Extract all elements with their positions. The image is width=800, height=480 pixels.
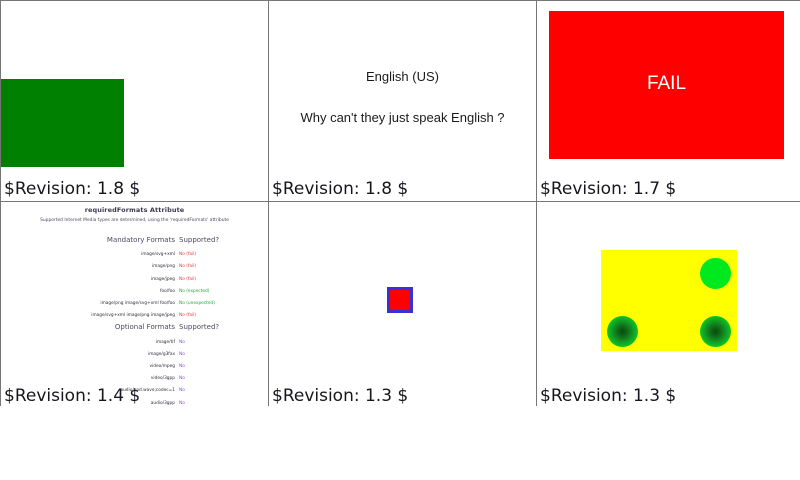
revision-label: $Revision: 1.8 $	[272, 179, 408, 199]
yellow-circles-canvas	[537, 202, 800, 408]
cell-green-rect: $Revision: 1.8 $	[1, 1, 268, 201]
table-row: video/mpeg No	[1, 358, 268, 370]
format-name: foo/foo	[160, 289, 175, 294]
supported-value: No	[179, 364, 185, 369]
green-circle-bottom-right	[700, 316, 731, 347]
english-text-canvas: English (US) Why can't they just speak E…	[269, 1, 536, 201]
fail-banner-canvas: FAIL	[537, 1, 800, 201]
revision-label: $Revision: 1.7 $	[540, 179, 676, 199]
table-row: image/svg+xml image/png image/jpeg No (f…	[1, 307, 268, 319]
format-name: image/svg+xml image/png image/jpeg	[91, 313, 175, 318]
supported-value: No (fail)	[179, 264, 196, 269]
optional-section-header: Optional Formats Supported?	[1, 319, 268, 333]
supported-value: No (fail)	[179, 277, 196, 282]
revision-label: $Revision: 1.8 $	[4, 179, 140, 199]
revision-label: $Revision: 1.4 $	[4, 386, 140, 406]
format-name: video/3gpp	[151, 376, 175, 381]
format-name: image/png	[152, 264, 175, 269]
formats-table-body: Mandatory Formats Supported? image/svg+x…	[1, 232, 268, 407]
cell-required-formats-report: requiredFormats Attribute Supported Inte…	[1, 202, 268, 408]
revision-label: $Revision: 1.3 $	[272, 386, 408, 406]
table-row: image/jpeg No (fail)	[1, 271, 268, 283]
supported-value: No (fail)	[179, 313, 196, 318]
green-rectangle-shape	[1, 79, 124, 167]
cell-yellow-circles: $Revision: 1.3 $	[537, 202, 800, 408]
yellow-rectangle-shape	[601, 250, 737, 351]
supported-value: No	[179, 376, 185, 381]
fail-banner-shape: FAIL	[549, 11, 784, 159]
table-row: foo/foo No (expected)	[1, 283, 268, 295]
format-name: image/svg+xml	[141, 252, 175, 257]
table-row: image/tif No	[1, 334, 268, 346]
table-row: image/png image/svg+xml foo/foo No (unex…	[1, 295, 268, 307]
cell-english-text: English (US) Why can't they just speak E…	[269, 1, 536, 201]
screenshot-root: $Revision: 1.8 $ English (US) Why can't …	[0, 0, 800, 480]
table-row: video/3gpp No	[1, 370, 268, 382]
supported-value: No	[179, 352, 185, 357]
required-formats-report: requiredFormats Attribute Supported Inte…	[1, 206, 268, 407]
table-row: image/g3fax No	[1, 346, 268, 358]
format-name: audio/3gpp	[151, 401, 175, 406]
optional-supported-heading: Supported?	[179, 319, 268, 333]
green-circle-top-right	[700, 258, 731, 289]
format-name: image/png image/svg+xml foo/foo	[100, 301, 175, 306]
report-subtitle: Supported Internet Media types are deter…	[1, 218, 268, 223]
supported-value: No	[179, 388, 185, 393]
supported-value: No (expected)	[179, 289, 209, 294]
supported-value: No (unexpected)	[179, 301, 215, 306]
table-row: image/png No (fail)	[1, 258, 268, 270]
green-circle-bottom-left	[607, 316, 638, 347]
test-result-grid: $Revision: 1.8 $ English (US) Why can't …	[0, 0, 800, 406]
mandatory-supported-heading: Supported?	[179, 232, 268, 246]
format-name: image/tif	[156, 340, 175, 345]
format-name: image/jpeg	[151, 277, 175, 282]
language-sentence: Why can't they just speak English ?	[269, 110, 536, 125]
supported-value: No (fail)	[179, 252, 196, 257]
language-label: English (US)	[269, 69, 536, 84]
mandatory-formats-heading: Mandatory Formats	[1, 232, 179, 246]
optional-formats-heading: Optional Formats	[1, 319, 179, 333]
green-rect-canvas	[1, 1, 268, 201]
formats-table: Mandatory Formats Supported? image/svg+x…	[1, 232, 268, 407]
supported-value: No	[179, 340, 185, 345]
revision-label: $Revision: 1.3 $	[540, 386, 676, 406]
fail-banner-text: FAIL	[549, 73, 784, 95]
supported-value: No	[179, 401, 185, 406]
red-square-shape	[387, 287, 413, 313]
format-name: image/g3fax	[148, 352, 175, 357]
report-canvas: requiredFormats Attribute Supported Inte…	[1, 202, 268, 408]
format-name: video/mpeg	[150, 364, 175, 369]
report-title: requiredFormats Attribute	[1, 206, 268, 214]
table-row: image/svg+xml No (fail)	[1, 246, 268, 258]
cell-fail-banner: FAIL $Revision: 1.7 $	[537, 1, 800, 201]
cell-red-square: $Revision: 1.3 $	[269, 202, 536, 408]
mandatory-section-header: Mandatory Formats Supported?	[1, 232, 268, 246]
red-square-canvas	[269, 202, 536, 408]
